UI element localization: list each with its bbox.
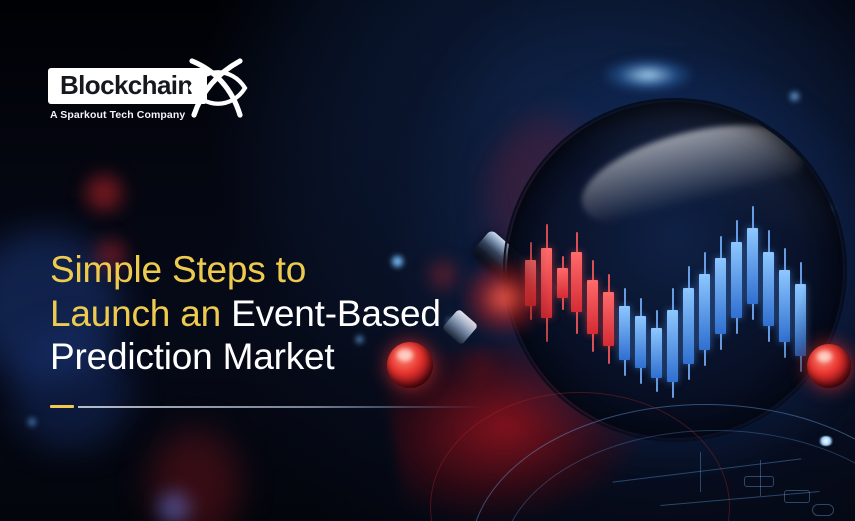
headline-line-2: Launch an Event-Based: [50, 292, 520, 336]
headline-line-1: Simple Steps to: [50, 248, 520, 292]
headline-line-2-gold: Launch an: [50, 293, 231, 334]
page-title: Simple Steps to Launch an Event-Based Pr…: [50, 248, 520, 379]
circuit-chip-3: [744, 476, 774, 487]
headline-line-3: Prediction Market: [50, 335, 520, 379]
divider-line: [78, 406, 482, 408]
divider-gold-dash: [50, 405, 74, 408]
logo-tagline: A Sparkout Tech Company: [50, 109, 185, 121]
logo-wordmark: Blockchain: [60, 72, 193, 99]
circuit-chip-2: [812, 504, 834, 516]
headline-line-2-white: Event-Based: [231, 293, 441, 334]
circuit-trace-v1: [700, 452, 701, 492]
circuit-spark-dot: [818, 436, 834, 446]
circuit-chip-1: [784, 490, 810, 503]
logo-plate: Blockchain: [48, 68, 207, 104]
magnifier-inner-bevel: [503, 98, 847, 442]
headline-line-3-text: Prediction Market: [50, 336, 335, 377]
rim-top-spark: [603, 58, 693, 92]
hero-banner: Blockchain A Sparkout Tech Company Simpl…: [0, 0, 855, 521]
blockchainx-x-icon: [188, 55, 250, 121]
red-glow-orb-right: [807, 344, 851, 388]
title-divider: [50, 405, 482, 408]
headline-line-1-text: Simple Steps to: [50, 249, 306, 290]
brand-logo[interactable]: Blockchain A Sparkout Tech Company: [48, 55, 248, 127]
